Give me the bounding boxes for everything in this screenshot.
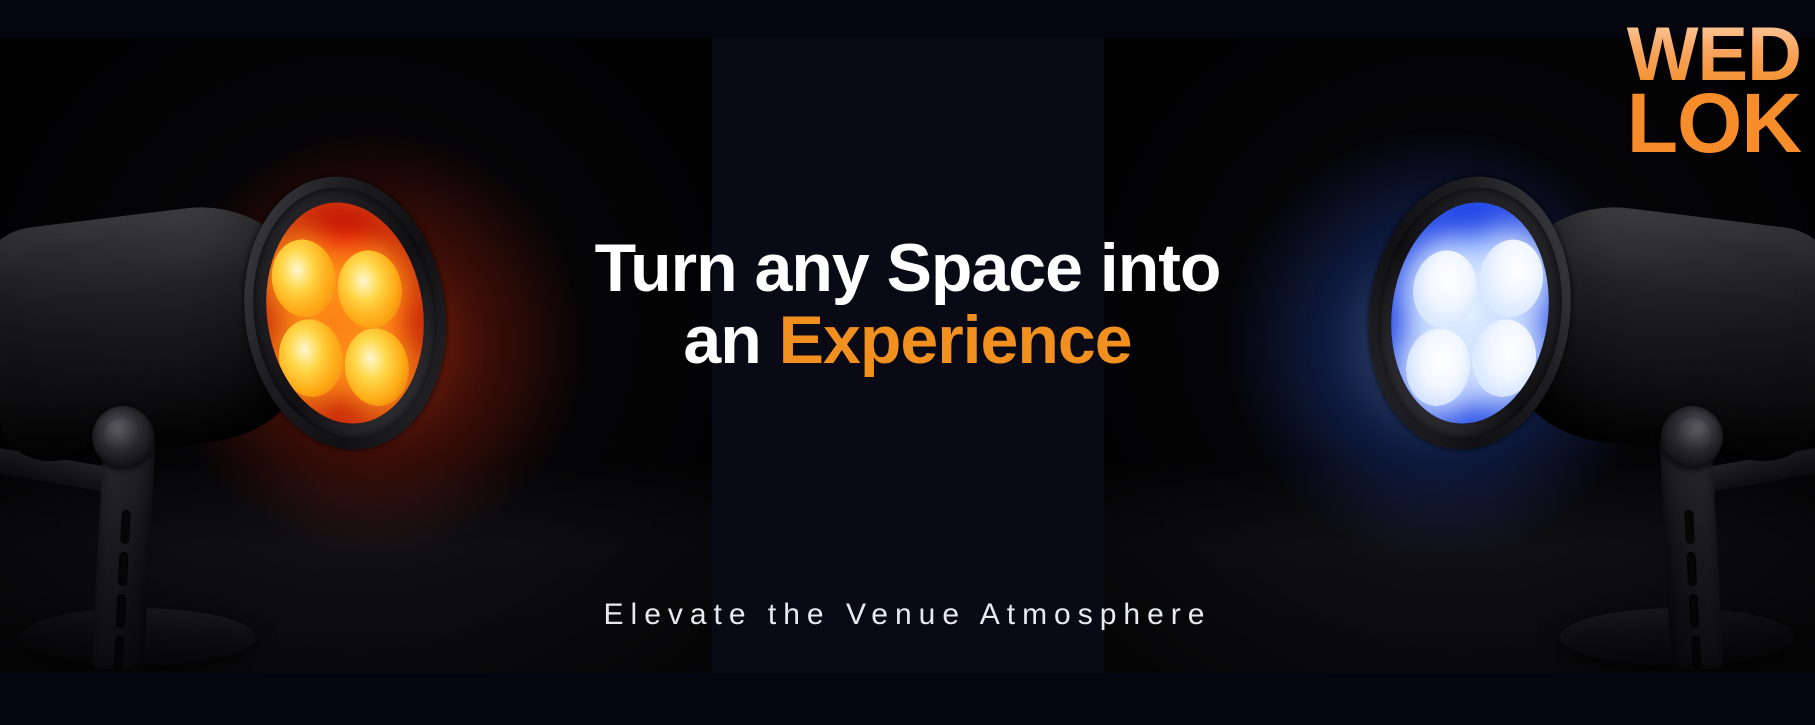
product-photo-band	[0, 38, 1815, 673]
center-backdrop-panel	[712, 38, 1104, 673]
promo-banner: Turn any Space into an Experience Elevat…	[0, 0, 1815, 725]
banner-card: Turn any Space into an Experience Elevat…	[0, 0, 1815, 725]
left-vignette	[0, 38, 712, 673]
logo-line-lok: LOK	[1627, 87, 1801, 159]
brand-logo: WED LOK	[1627, 22, 1801, 160]
left-photo-panel	[0, 38, 712, 673]
